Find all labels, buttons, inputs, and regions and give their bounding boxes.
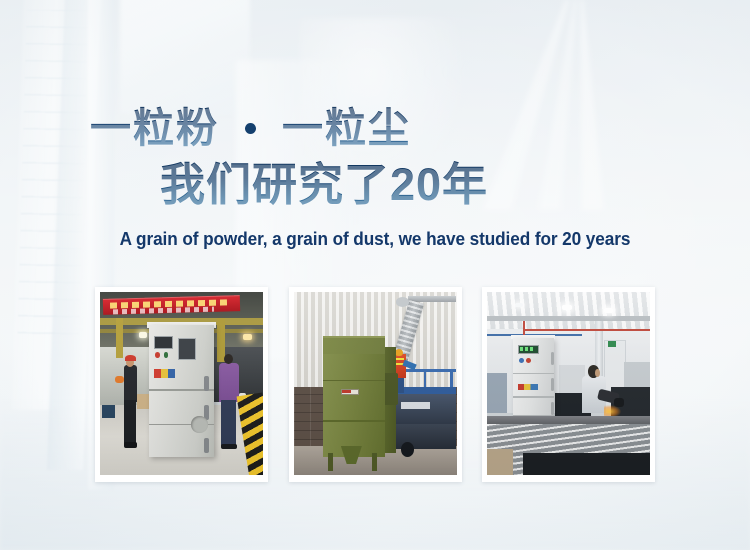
photo-frame-1 (95, 287, 268, 482)
headline-line-1-part-1: 一粒粉 (90, 104, 219, 152)
headline-line-1: 一粒粉 一粒尘 (0, 104, 750, 152)
photo-gallery (95, 287, 655, 482)
headline-line-1-part-2: 一粒尘 (282, 104, 411, 152)
photo-dust-collector-workshop (487, 292, 650, 475)
promo-banner: 一粒粉 一粒尘 我们研究了20年 A grain of powder, a gr… (0, 0, 750, 550)
dot-separator-icon (245, 123, 256, 134)
photo-frame-3 (482, 287, 655, 482)
photo-dust-collector-green-unit (294, 292, 457, 475)
headline-line-2: 我们研究了20年 (0, 158, 750, 212)
headline-block: 一粒粉 一粒尘 我们研究了20年 (0, 104, 750, 212)
photo-frame-2 (289, 287, 462, 482)
photo-dust-collector-grey-cabinet (100, 292, 263, 475)
subtitle-text: A grain of powder, a grain of dust, we h… (26, 228, 724, 250)
